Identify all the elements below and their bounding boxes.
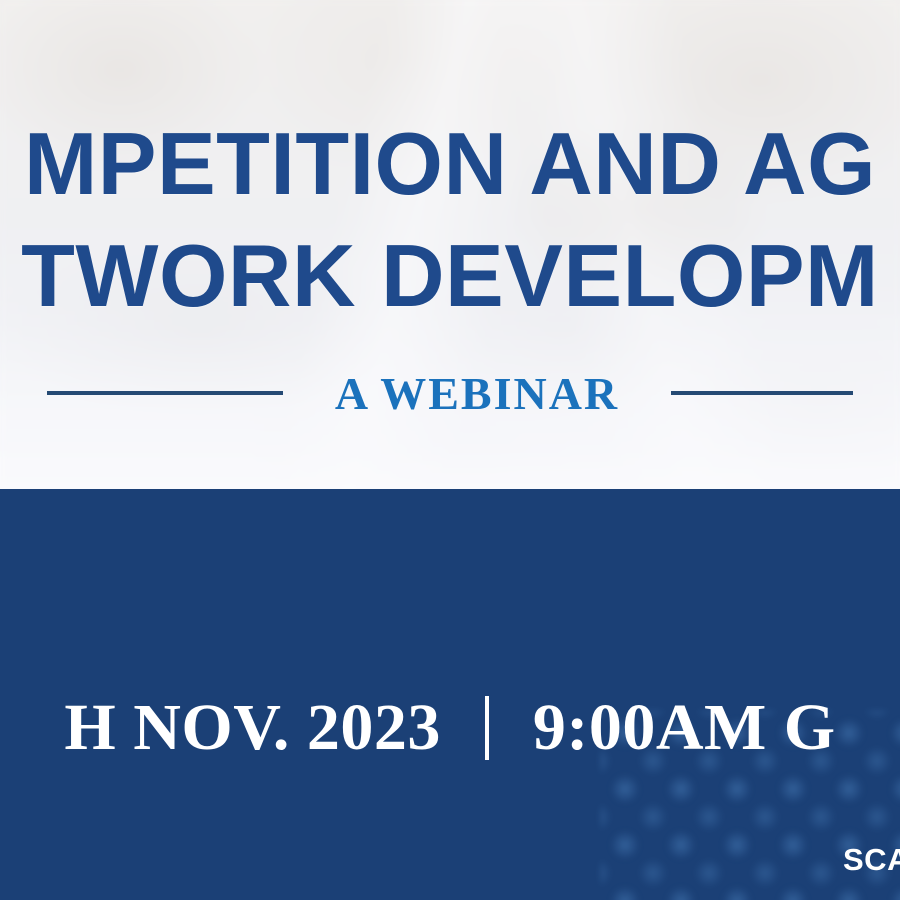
subtitle-rule-right: [671, 391, 853, 395]
event-date: H NOV. 2023: [64, 690, 441, 766]
subtitle-label: A WEBINAR: [335, 367, 619, 420]
event-datetime: H NOV. 2023 9:00AM G: [0, 690, 900, 766]
event-time: 9:00AM G: [533, 690, 836, 766]
datetime-separator: [485, 696, 489, 760]
webinar-poster: MPETITION AND AG TWORK DEVELOPM A WEBINA…: [0, 0, 900, 900]
subtitle-row: A WEBINAR: [0, 358, 900, 428]
organization-logo-text: SCA: [843, 842, 900, 878]
subtitle-rule-left: [47, 391, 283, 395]
